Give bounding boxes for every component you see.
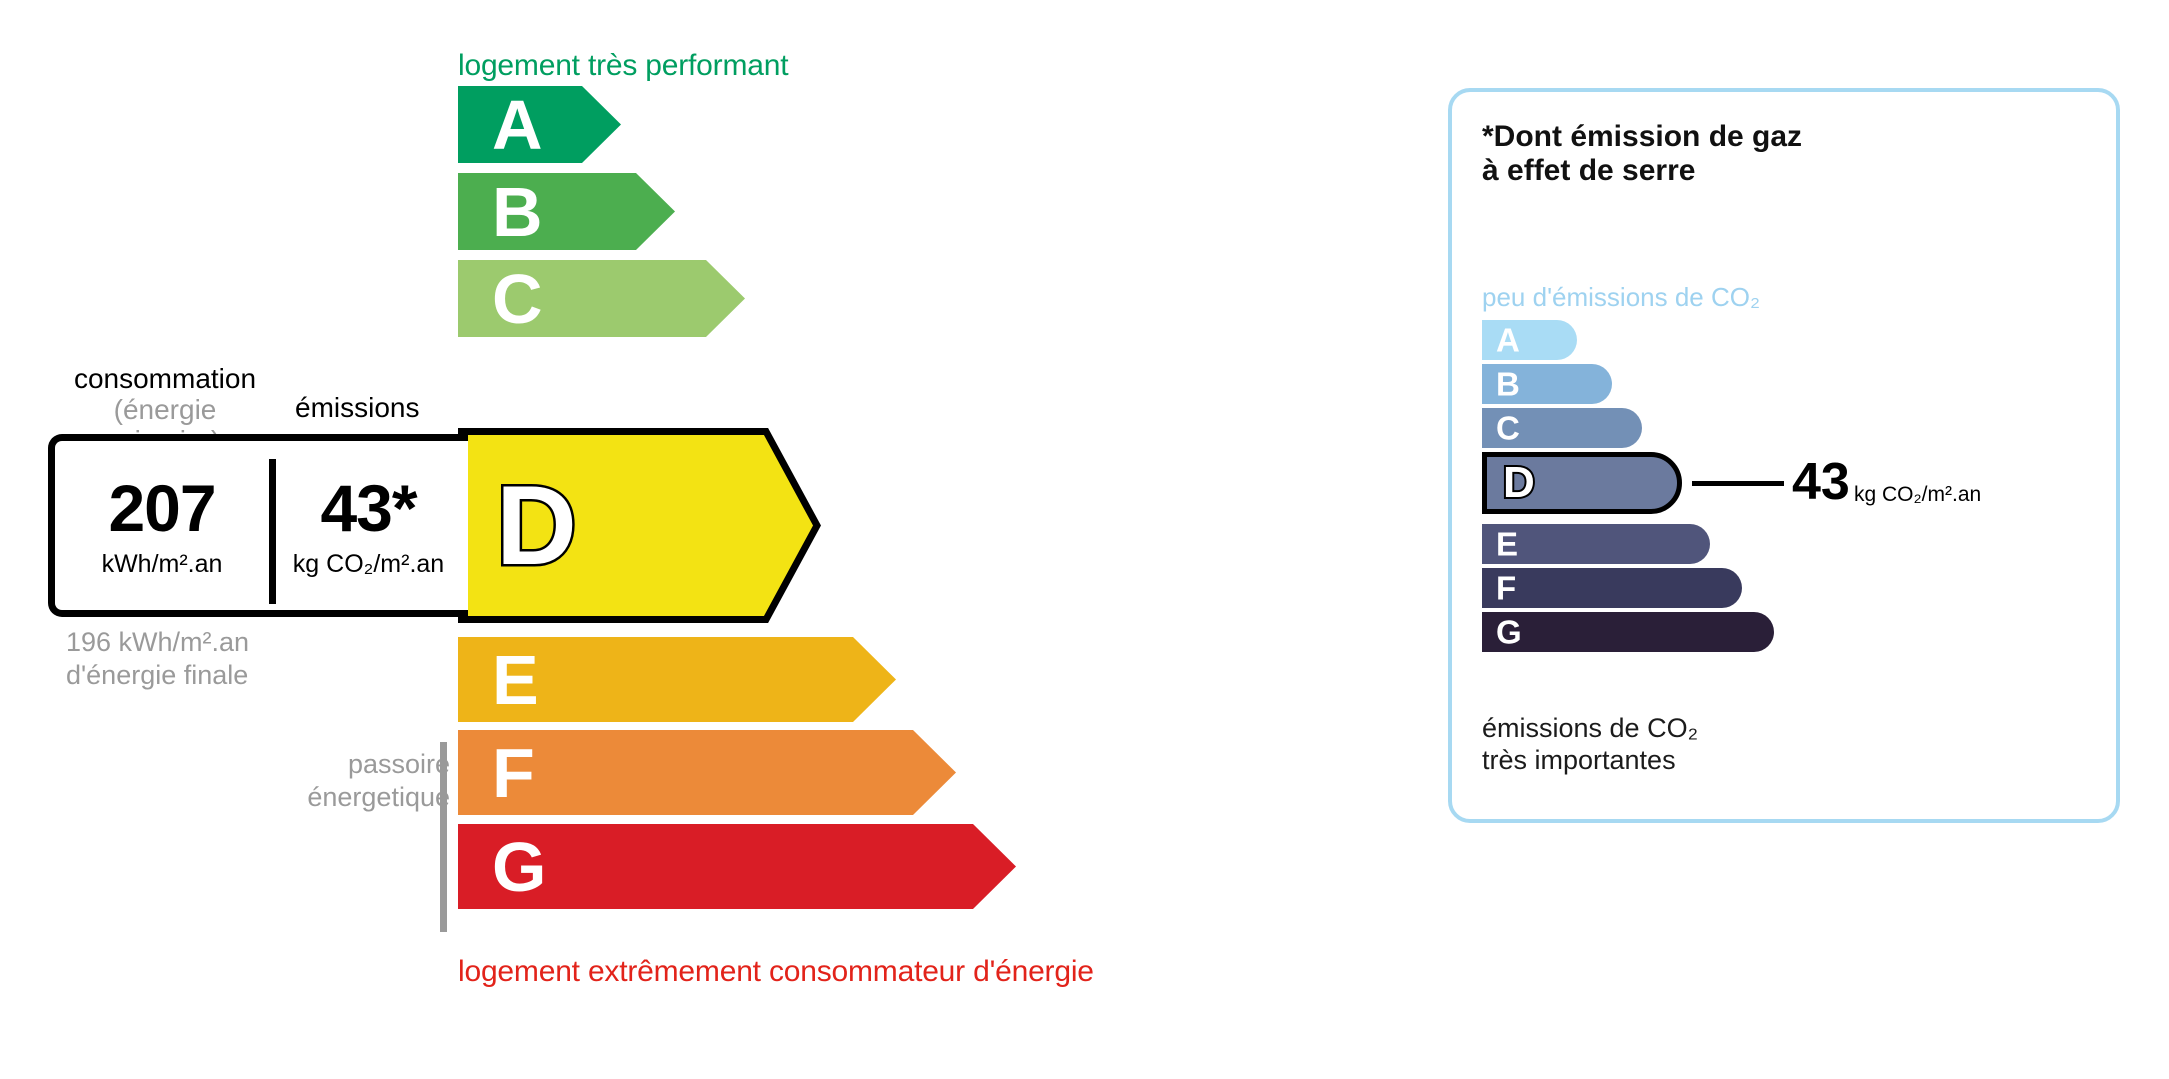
co2-panel-title: *Dont émission de gaz à effet de serre bbox=[1482, 120, 1802, 188]
emission-value: 43* bbox=[269, 475, 468, 541]
co2-band-letter-d: D bbox=[1503, 461, 1535, 505]
emission-unit: kg CO₂/m².an bbox=[269, 552, 468, 577]
passoire-energetique-label: passoire énergetique bbox=[240, 748, 450, 814]
consumption-cell: 207 kWh/m².an bbox=[55, 475, 269, 577]
band-letter-a: A bbox=[492, 90, 543, 160]
label-emissions: émissions bbox=[295, 392, 419, 424]
energy-performance-panel: logement très performant A B bbox=[0, 0, 1320, 1079]
co2-band-b: B bbox=[1482, 364, 1612, 404]
passoire-line2: énergetique bbox=[240, 781, 450, 814]
co2-value-unit: kg CO₂/m².an bbox=[1854, 484, 1981, 505]
band-letter-e: E bbox=[492, 645, 539, 715]
energy-band-g: G bbox=[458, 824, 1016, 909]
co2-leader-line bbox=[1692, 481, 1784, 486]
passoire-bracket-bar bbox=[440, 742, 447, 932]
emission-cell: 43* kg CO₂/m².an bbox=[269, 475, 468, 577]
consumption-unit: kWh/m².an bbox=[55, 552, 269, 577]
co2-band-e: E bbox=[1482, 524, 1710, 564]
final-energy-line2: d'énergie finale bbox=[66, 659, 249, 692]
caption-high-performance: logement très performant bbox=[458, 49, 788, 83]
final-energy-note: 196 kWh/m².an d'énergie finale bbox=[66, 626, 249, 692]
final-energy-line1: 196 kWh/m².an bbox=[66, 626, 249, 659]
co2-caption-high: émissions de CO₂ très importantes bbox=[1482, 712, 1698, 777]
consumption-value: 207 bbox=[55, 475, 269, 541]
co2-band-letter-f: F bbox=[1496, 572, 1516, 605]
energy-band-d-selected: D bbox=[458, 428, 821, 623]
band-letter-d: D bbox=[496, 470, 577, 582]
value-box: 207 kWh/m².an 43* kg CO₂/m².an bbox=[48, 434, 468, 617]
caption-extreme-consumption: logement extrêmement consommateur d'éner… bbox=[458, 955, 1094, 989]
dpe-screenshot: logement très performant A B bbox=[0, 0, 2169, 1079]
label-consommation-main: consommation bbox=[74, 363, 256, 394]
co2-value: 43 bbox=[1792, 456, 1850, 508]
co2-caption-low: peu d'émissions de CO₂ bbox=[1482, 282, 1760, 313]
band-arrow-b bbox=[458, 173, 675, 250]
co2-band-letter-c: C bbox=[1496, 412, 1520, 445]
co2-band-letter-a: A bbox=[1496, 324, 1520, 357]
passoire-line1: passoire bbox=[240, 748, 450, 781]
band-letter-g: G bbox=[492, 832, 546, 902]
co2-band-letter-g: G bbox=[1496, 616, 1522, 649]
co2-band-d-selected: D bbox=[1482, 452, 1682, 514]
band-letter-f: F bbox=[492, 738, 535, 808]
energy-band-f: F bbox=[458, 730, 956, 815]
energy-band-e: E bbox=[458, 637, 896, 722]
energy-band-b: B bbox=[458, 173, 675, 250]
co2-band-letter-b: B bbox=[1496, 368, 1520, 401]
co2-band-a: A bbox=[1482, 320, 1577, 360]
co2-band-c: C bbox=[1482, 408, 1642, 448]
co2-emissions-panel: *Dont émission de gaz à effet de serre p… bbox=[1448, 88, 2120, 823]
co2-band-letter-e: E bbox=[1496, 528, 1518, 561]
co2-band-f: F bbox=[1482, 568, 1742, 608]
energy-band-c: C bbox=[458, 260, 745, 337]
band-letter-c: C bbox=[492, 264, 543, 334]
co2-band-g: G bbox=[1482, 612, 1774, 652]
energy-band-a: A bbox=[458, 86, 621, 163]
band-letter-b: B bbox=[492, 177, 543, 247]
